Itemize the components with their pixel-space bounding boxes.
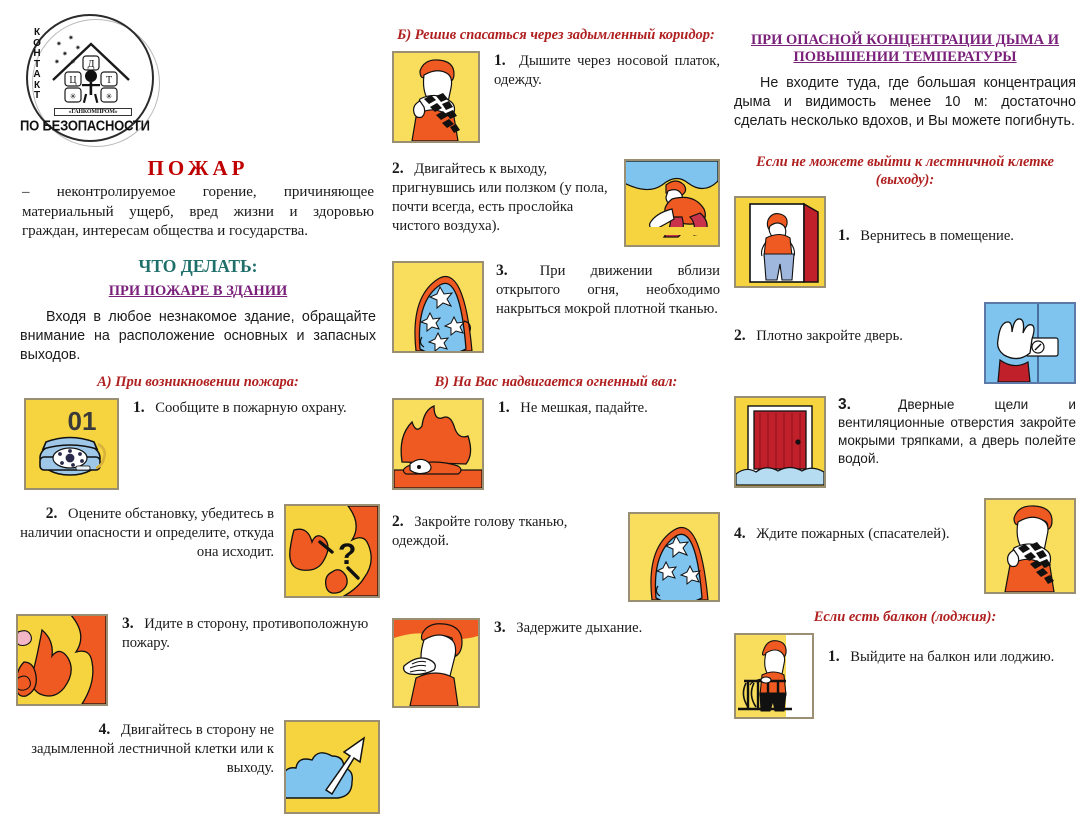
person-hold-breath-illustration (392, 618, 480, 708)
fire-definition: – неконтролируемое горение, причиняющее … (16, 183, 380, 242)
open-door-illustration (734, 196, 826, 288)
list-item: 3. Идите в сторону, противоположную пожа… (16, 614, 380, 706)
svg-text:✷: ✷ (54, 58, 60, 66)
svg-text:✷: ✷ (70, 58, 76, 66)
right-column: ПРИ ОПАСНОЙ КОНЦЕНТРАЦИИ ДЫМА И ПОВЫШЕНИ… (720, 8, 1076, 838)
balcony-section-heading: Если есть балкон (лоджия): (734, 608, 1076, 626)
svg-text:?: ? (338, 538, 356, 571)
phone-01-illustration: 01 (24, 398, 119, 490)
item-number: 1. (828, 648, 840, 665)
item-number: 3. (838, 396, 851, 413)
organization-logo: КОНТАКТ Д Ц Т (18, 10, 168, 150)
fire-in-building-heading: ПРИ ПОЖАРЕ В ЗДАНИИ (16, 283, 380, 300)
smoke-arrow-illustration (284, 720, 380, 814)
section-a-heading: А) При возникновении пожара: (16, 373, 380, 391)
item-number: 2. (392, 160, 404, 177)
list-item: 1. Дышите через носовой платок, одежду. (392, 51, 720, 143)
item-text: Сообщите в пожарную охрану. (155, 400, 346, 416)
item-text: При движении вблизи открытого огня, необ… (496, 263, 720, 317)
item-number: 1. (133, 399, 145, 416)
svg-text:✷: ✷ (75, 44, 81, 52)
item-text: Выйдите на балкон или лоджию. (850, 649, 1054, 665)
person-scarf-illustration (392, 51, 480, 143)
svg-text:✷: ✷ (56, 40, 62, 48)
list-item: 1. Не мешкая, падайте. (392, 398, 720, 490)
svg-text:Ц: Ц (69, 75, 76, 86)
svg-text:✷: ✷ (62, 50, 68, 58)
item-text: Дверные щели и вентиляционные отверстия … (838, 397, 1076, 466)
item-text: Плотно закройте дверь. (756, 328, 903, 344)
fire-question-illustration: ? (284, 504, 380, 598)
svg-text:Д: Д (88, 59, 95, 70)
svg-text:✳: ✳ (106, 92, 113, 101)
item-text: Задержите дыхание. (516, 620, 642, 636)
item-number: 1. (498, 399, 510, 416)
logo-brand-label: «ГАНКОМПРОМ» (54, 108, 132, 116)
fire-flames-illustration (16, 614, 108, 706)
list-item: 1. Выйдите на балкон или лоджию. (734, 633, 1076, 719)
item-text: Ждите пожарных (спасателей). (756, 526, 949, 542)
item-number: 4. (734, 525, 746, 542)
list-item: 3. Задержите дыхание. (392, 618, 720, 708)
item-text: Дышите через носовой платок, одежду. (494, 53, 720, 88)
what-to-do-heading: ЧТО ДЕЛАТЬ: (16, 256, 380, 277)
stairs-section-heading: Если не можете выйти к лестничной клетке… (734, 153, 1076, 189)
left-column: КОНТАКТ Д Ц Т (10, 8, 380, 838)
list-item: 1. Вернитесь в помещение. (734, 196, 1076, 288)
svg-text:01: 01 (68, 406, 97, 436)
person-wet-cloth-illustration (392, 261, 484, 353)
smoke-warning-text: Не входите туда, где большая концентраци… (734, 74, 1076, 131)
item-number: 1. (838, 227, 850, 244)
item-number: 1. (494, 52, 506, 69)
item-number: 2. (734, 327, 746, 344)
person-balcony-illustration (734, 633, 814, 719)
smoke-danger-heading: ПРИ ОПАСНОЙ КОНЦЕНТРАЦИИ ДЫМА И ПОВЫШЕНИ… (734, 32, 1076, 66)
list-item: 3. Дверные щели и вентиляционные отверст… (734, 396, 1076, 488)
svg-text:✷: ✷ (68, 34, 74, 42)
item-number: 3. (122, 615, 134, 632)
section-v-heading: В) На Вас надвигается огненный вал: (392, 373, 720, 391)
red-door-water-illustration (734, 396, 826, 488)
item-number: 2. (46, 505, 58, 522)
section-b-heading: Б) Решив спасаться через задымленный кор… (392, 26, 720, 44)
hand-closing-door-illustration (984, 302, 1076, 384)
item-text: Двигайтесь в сторону не задымленной лест… (31, 722, 274, 776)
list-item: 2. Плотно закройте дверь. (734, 302, 1076, 384)
item-text: Двигайтесь к выходу, пригнувшись или пол… (392, 161, 608, 234)
fire-safety-poster: КОНТАКТ Д Ц Т (0, 0, 1086, 838)
item-text: Закройте голову тканью, одеждой. (392, 514, 567, 549)
person-falling-illustration (392, 398, 484, 490)
person-scarf-2-illustration (984, 498, 1076, 594)
building-intro-text: Входя в любое незнакомое здание, обращай… (16, 308, 380, 365)
item-text: Вернитесь в помещение. (860, 228, 1014, 244)
list-item: ? 2. Оцените обстановку, убедитесь в нал… (16, 504, 380, 598)
item-text: Оцените обстановку, убедитесь в наличии … (20, 506, 274, 560)
list-item: 2. Двигайтесь к выходу, пригнувшись или … (392, 159, 720, 247)
list-item: 4. Ждите пожарных (спасателей). (734, 498, 1076, 594)
person-crawling-illustration (624, 159, 720, 247)
list-item: 3. При движении вблизи открытого огня, н… (392, 261, 720, 353)
logo-bottom-text: ПО БЕЗОПАСНОСТИ (20, 117, 150, 134)
list-item: 01 (24, 398, 380, 490)
page-title: ПОЖАР (16, 156, 380, 181)
house-icon: Д Ц Т ✳ ✳ ✷✷✷ ✷✷✷ (48, 34, 134, 118)
list-item: 4. Двигайтесь в сторону не задымленной л… (16, 720, 380, 814)
item-text: Не мешкая, падайте. (520, 400, 647, 416)
item-number: 2. (392, 513, 404, 530)
item-number: 4. (99, 721, 111, 738)
svg-text:✳: ✳ (70, 92, 77, 101)
svg-text:Т: Т (106, 75, 112, 86)
person-cover-head-illustration (628, 512, 720, 602)
logo-vertical-text: КОНТАКТ (30, 28, 44, 102)
item-number: 3. (496, 262, 508, 279)
item-text: Идите в сторону, противоположную пожару. (122, 616, 368, 651)
middle-column: Б) Решив спасаться через задымленный кор… (380, 8, 720, 838)
list-item: 2. Закройте голову тканью, одеждой. (392, 512, 720, 602)
item-number: 3. (494, 619, 506, 636)
